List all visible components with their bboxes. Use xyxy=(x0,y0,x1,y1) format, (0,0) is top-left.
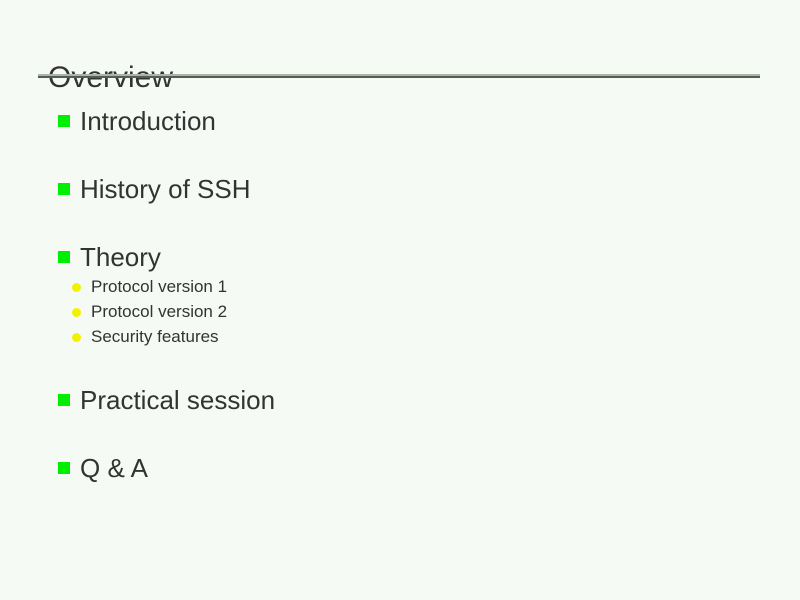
outline-item-practical-session[interactable]: Practical session xyxy=(0,383,800,417)
outline-subitem-label: Protocol version 1 xyxy=(72,277,227,296)
outline-item-label: Introduction xyxy=(58,104,216,138)
yellow-dot-bullet-icon xyxy=(72,283,81,292)
outline-item-theory[interactable]: Theory xyxy=(0,240,800,274)
green-square-bullet-icon xyxy=(58,462,70,474)
title-divider-rule xyxy=(38,74,760,79)
outline-subitem-protocol-version-2[interactable]: Protocol version 2 xyxy=(0,299,800,324)
outline-subitem-label: Protocol version 2 xyxy=(72,302,227,321)
outline-item-label: Theory xyxy=(58,240,161,274)
outline-item-history-of-ssh[interactable]: History of SSH xyxy=(0,172,800,206)
presentation-slide: Overview Introduction History of SSH The… xyxy=(0,0,800,600)
green-square-bullet-icon xyxy=(58,115,70,127)
outline-subitem-protocol-version-1[interactable]: Protocol version 1 xyxy=(0,274,800,299)
outline-subitem-label: Security features xyxy=(72,327,219,346)
outline-item-introduction[interactable]: Introduction xyxy=(0,104,800,138)
outline-spacer xyxy=(0,206,800,240)
slide-outline-list: Introduction History of SSH Theory Proto… xyxy=(0,104,800,485)
outline-item-label: Q & A xyxy=(58,451,148,485)
yellow-dot-bullet-icon xyxy=(72,333,81,342)
rule-bottom-band xyxy=(38,76,760,78)
green-square-bullet-icon xyxy=(58,183,70,195)
outline-item-label: Practical session xyxy=(58,383,275,417)
outline-subitem-security-features[interactable]: Security features xyxy=(0,324,800,349)
outline-spacer xyxy=(0,417,800,451)
outline-item-q-and-a[interactable]: Q & A xyxy=(0,451,800,485)
outline-item-label: History of SSH xyxy=(58,172,251,206)
outline-spacer xyxy=(0,138,800,172)
yellow-dot-bullet-icon xyxy=(72,308,81,317)
green-square-bullet-icon xyxy=(58,394,70,406)
outline-spacer xyxy=(0,349,800,383)
green-square-bullet-icon xyxy=(58,251,70,263)
